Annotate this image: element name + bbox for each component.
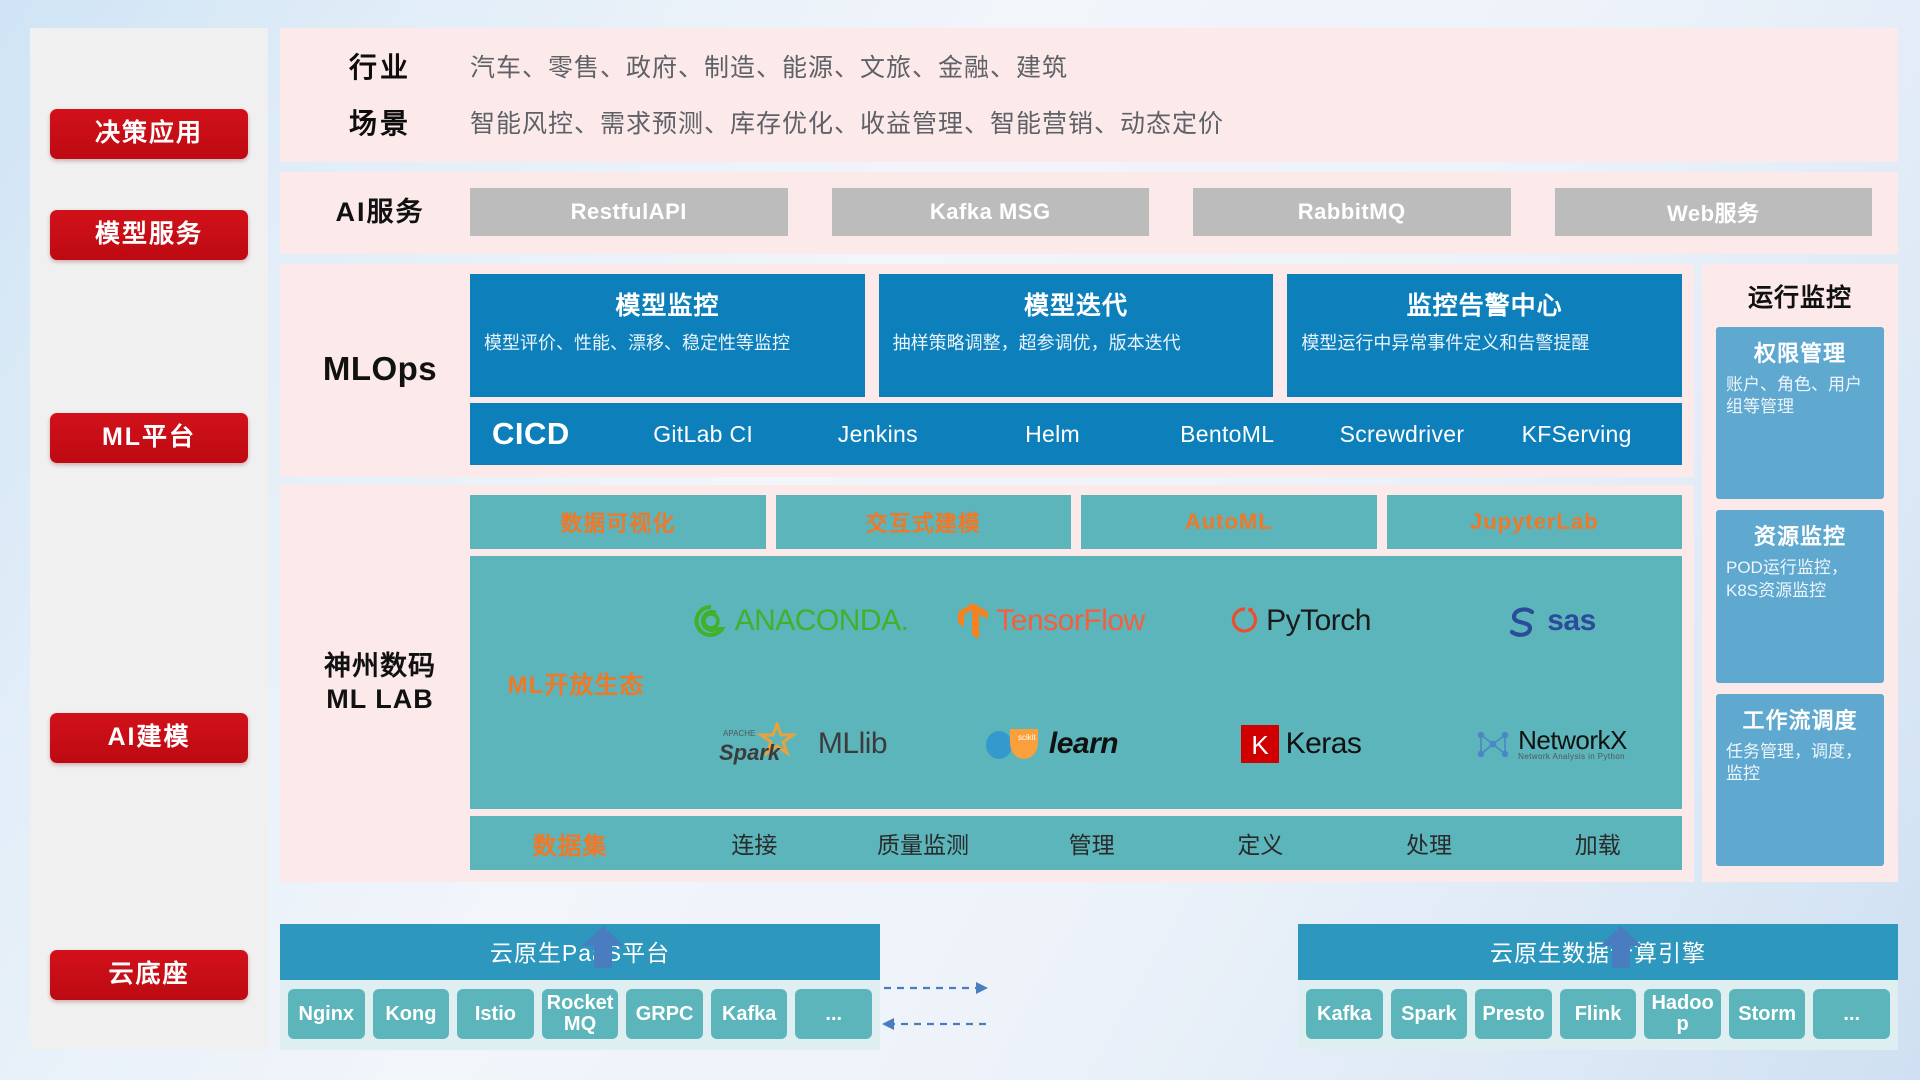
stage-slot-ml-platform: ML平台: [50, 288, 248, 588]
industry-label: 行业: [290, 46, 470, 86]
ml-lab-content: 数据可视化 交互式建模 AutoML JupyterLab ML开放生态: [470, 495, 1682, 870]
stage-slot-model-service: 模型服务: [50, 182, 248, 288]
tensorflow-wordmark: TensorFlow: [996, 604, 1144, 638]
service-chip-kafka-msg[interactable]: Kafka MSG: [832, 188, 1150, 236]
stage-rail: 决策应用 模型服务 ML平台 AI建模 云底座: [30, 28, 268, 1050]
stage-chip-model-service[interactable]: 模型服务: [50, 210, 248, 260]
ml-lab-band: 神州数码 ML LAB 数据可视化 交互式建模 AutoML JupyterLa…: [280, 485, 1694, 882]
monitor-card-permission[interactable]: 权限管理 账户、角色、用户组等管理: [1716, 327, 1884, 499]
monitor-card-resource[interactable]: 资源监控 POD运行监控，K8S资源监控: [1716, 510, 1884, 682]
stage-chip-ai-modeling[interactable]: AI建模: [50, 713, 248, 763]
lab-tool-data-visualization[interactable]: 数据可视化: [470, 495, 766, 549]
dataset-item-definition[interactable]: 定义: [1176, 826, 1345, 860]
stage-chip-decision-app[interactable]: 决策应用: [50, 109, 248, 159]
ml-open-ecosystem-title: ML开放生态: [476, 665, 676, 700]
ml-open-ecosystem-panel: ML开放生态 ANACONDA.: [470, 556, 1682, 809]
tensorflow-logo: TensorFlow: [957, 602, 1144, 640]
paas-chip-istio[interactable]: Istio: [457, 989, 534, 1039]
paas-chip-nginx[interactable]: Nginx: [288, 989, 365, 1039]
stage-chip-cloud-base[interactable]: 云底座: [50, 950, 248, 1000]
scenario-label: 场景: [290, 102, 470, 142]
data-chip-more[interactable]: ...: [1813, 989, 1890, 1039]
keras-wordmark: Keras: [1286, 727, 1362, 761]
data-chip-hadoop[interactable]: Hadoop: [1644, 989, 1721, 1039]
sas-icon: [1506, 604, 1540, 638]
dataset-row: 数据集 连接 质量监测 管理 定义 处理 加载: [470, 816, 1682, 870]
dataset-item-quality-monitoring[interactable]: 质量监测: [839, 826, 1008, 860]
stage-chip-ml-platform[interactable]: ML平台: [50, 413, 248, 463]
application-rows: 行业 汽车、零售、政府、制造、能源、文旅、金融、建筑 场景 智能风控、需求预测、…: [290, 46, 1872, 142]
networkx-icon: [1475, 727, 1511, 761]
mlops-band: MLOps 模型监控 模型评价、性能、漂移、稳定性等监控 模型迭代 抽样策略调整…: [280, 264, 1694, 477]
decision-application-band: 行业 汽车、零售、政府、制造、能源、文旅、金融、建筑 场景 智能风控、需求预测、…: [280, 28, 1898, 162]
mlops-label: MLOps: [290, 274, 470, 465]
ml-lab-label-line1: 神州数码: [324, 650, 436, 683]
card-desc: POD运行监控，K8S资源监控: [1726, 557, 1874, 602]
data-chip-spark[interactable]: Spark: [1391, 989, 1468, 1039]
pytorch-icon: [1231, 604, 1259, 638]
industry-row: 行业 汽车、零售、政府、制造、能源、文旅、金融、建筑: [290, 46, 1872, 86]
lab-tool-interactive-modeling[interactable]: 交互式建模: [776, 495, 1072, 549]
cloud-native-data-engine-group: 云原生数据计算引擎 Kafka Spark Presto Flink Hadoo…: [1298, 924, 1898, 1050]
scikit-learn-logo: scikit learn: [984, 723, 1118, 765]
data-chip-presto[interactable]: Presto: [1475, 989, 1552, 1039]
networkx-logo: NetworkX Network Analysis in Python: [1475, 727, 1627, 761]
paas-chip-kafka[interactable]: Kafka: [711, 989, 788, 1039]
dataset-item-row: 连接 质量监测 管理 定义 处理 加载: [670, 826, 1682, 860]
stage-slot-cloud-base: 云底座: [50, 888, 248, 1000]
arrow-left-icon: [882, 1018, 894, 1030]
cicd-item-kfserving[interactable]: KFServing: [1489, 423, 1664, 446]
stage-slot-ai-modeling: AI建模: [50, 588, 248, 888]
platform-main-column: MLOps 模型监控 模型评价、性能、漂移、稳定性等监控 模型迭代 抽样策略调整…: [280, 264, 1694, 882]
tensorflow-icon: [957, 602, 989, 640]
spark-icon: APACHE Spark: [715, 722, 811, 766]
ai-service-label: AI服务: [290, 196, 470, 229]
industry-values: 汽车、零售、政府、制造、能源、文旅、金融、建筑: [470, 48, 1068, 84]
mlops-card-model-iteration[interactable]: 模型迭代 抽样策略调整，超参调优，版本迭代: [879, 274, 1274, 397]
card-title: 模型监控: [484, 286, 851, 322]
paas-chip-kong[interactable]: Kong: [373, 989, 450, 1039]
sas-wordmark: sas: [1547, 604, 1596, 638]
data-chip-kafka[interactable]: Kafka: [1306, 989, 1383, 1039]
svg-text:K: K: [1251, 730, 1269, 760]
cicd-item-helm[interactable]: Helm: [965, 423, 1140, 446]
keras-logo: K Keras: [1241, 725, 1362, 763]
scenario-row: 场景 智能风控、需求预测、库存优化、收益管理、智能营销、动态定价: [290, 102, 1872, 142]
runtime-monitoring-title: 运行监控: [1716, 278, 1884, 314]
anaconda-logo: ANACONDA.: [694, 604, 909, 638]
service-chip-web-service[interactable]: Web服务: [1555, 188, 1873, 236]
dataset-item-management[interactable]: 管理: [1007, 826, 1176, 860]
cicd-item-row: GitLab CI Jenkins Helm BentoML Screwdriv…: [616, 423, 1664, 446]
scikit-learn-wordmark: learn: [1049, 727, 1118, 761]
scikit-learn-icon: scikit: [984, 723, 1042, 765]
anaconda-wordmark: ANACONDA.: [735, 604, 909, 638]
ml-lab-label-line2: ML LAB: [324, 683, 436, 716]
paas-chip-row: Nginx Kong Istio RocketMQ GRPC Kafka ...: [280, 980, 880, 1050]
mlops-card-model-monitoring[interactable]: 模型监控 模型评价、性能、漂移、稳定性等监控: [470, 274, 865, 397]
architecture-diagram: 决策应用 模型服务 ML平台 AI建模 云底座 行业 汽车、零售、政府、制造、能…: [0, 0, 1920, 1080]
runtime-monitoring-band: 运行监控 权限管理 账户、角色、用户组等管理 资源监控 POD运行监控，K8S资…: [1702, 264, 1898, 882]
cicd-item-bentoml[interactable]: BentoML: [1140, 423, 1315, 446]
card-title: 监控告警中心: [1301, 286, 1668, 322]
content-stack: 行业 汽车、零售、政府、制造、能源、文旅、金融、建筑 场景 智能风控、需求预测、…: [280, 28, 1898, 1050]
arrow-right-icon: [976, 982, 988, 994]
arrow-up-icon: [580, 926, 626, 968]
paas-chip-rocketmq[interactable]: RocketMQ: [542, 989, 619, 1039]
keras-icon: K: [1241, 725, 1279, 763]
cicd-title: CICD: [492, 416, 570, 452]
data-engine-chip-row: Kafka Spark Presto Flink Hadoop Storm ..…: [1298, 980, 1898, 1050]
mlops-content: 模型监控 模型评价、性能、漂移、稳定性等监控 模型迭代 抽样策略调整，超参调优，…: [470, 274, 1682, 465]
card-title: 工作流调度: [1726, 703, 1874, 735]
mlops-card-alert-center[interactable]: 监控告警中心 模型运行中异常事件定义和告警提醒: [1287, 274, 1682, 397]
cicd-item-jenkins[interactable]: Jenkins: [790, 423, 965, 446]
ecosystem-logo-grid: ANACONDA. TensorFlow: [676, 560, 1676, 805]
card-title: 权限管理: [1726, 336, 1874, 368]
arrow-up-icon: [1598, 926, 1644, 968]
mlops-card-row: 模型监控 模型评价、性能、漂移、稳定性等监控 模型迭代 抽样策略调整，超参调优，…: [470, 274, 1682, 397]
ai-service-band: AI服务 RestfulAPI Kafka MSG RabbitMQ Web服务: [280, 172, 1898, 254]
platform-zone: MLOps 模型监控 模型评价、性能、漂移、稳定性等监控 模型迭代 抽样策略调整…: [280, 264, 1898, 882]
cicd-item-screwdriver[interactable]: Screwdriver: [1315, 423, 1490, 446]
lab-tool-jupyterlab[interactable]: JupyterLab: [1387, 495, 1683, 549]
cloud-native-paas-group: 云原生PaaS平台 Nginx Kong Istio RocketMQ GRPC…: [280, 924, 880, 1050]
networkx-tagline: Network Analysis in Python: [1518, 753, 1627, 761]
card-desc: 抽样策略调整，超参调优，版本迭代: [893, 331, 1260, 356]
service-chip-restful-api[interactable]: RestfulAPI: [470, 188, 788, 236]
pytorch-wordmark: PyTorch: [1266, 604, 1371, 638]
spark-mllib-logo: APACHE Spark MLlib: [715, 722, 887, 766]
scenario-values: 智能风控、需求预测、库存优化、收益管理、智能营销、动态定价: [470, 104, 1224, 140]
stage-slot-decision: 决策应用: [50, 86, 248, 182]
dataset-item-connect[interactable]: 连接: [670, 826, 839, 860]
dataset-title: 数据集: [470, 826, 670, 861]
dataset-item-processing[interactable]: 处理: [1345, 826, 1514, 860]
pytorch-logo: PyTorch: [1231, 604, 1371, 638]
card-desc: 模型评价、性能、漂移、稳定性等监控: [484, 331, 851, 356]
card-desc: 任务管理，调度，监控: [1726, 741, 1874, 786]
dataset-item-loading[interactable]: 加载: [1513, 826, 1682, 860]
card-title: 模型迭代: [893, 286, 1260, 322]
svg-text:Spark: Spark: [719, 740, 782, 765]
ai-service-chip-row: RestfulAPI Kafka MSG RabbitMQ Web服务: [470, 188, 1872, 236]
cicd-bar: CICD GitLab CI Jenkins Helm BentoML Scre…: [470, 403, 1682, 465]
card-title: 资源监控: [1726, 519, 1874, 551]
card-desc: 账户、角色、用户组等管理: [1726, 374, 1874, 419]
mllib-wordmark: MLlib: [818, 727, 887, 761]
service-chip-rabbitmq[interactable]: RabbitMQ: [1193, 188, 1511, 236]
bidirectional-dashed-connector: [880, 972, 990, 1042]
card-desc: 模型运行中异常事件定义和告警提醒: [1301, 331, 1668, 356]
paas-chip-grpc[interactable]: GRPC: [626, 989, 703, 1039]
ml-lab-tool-row: 数据可视化 交互式建模 AutoML JupyterLab: [470, 495, 1682, 549]
data-chip-storm[interactable]: Storm: [1729, 989, 1806, 1039]
cloud-base-zone: 云原生PaaS平台 Nginx Kong Istio RocketMQ GRPC…: [280, 892, 1898, 1050]
svg-text:scikit: scikit: [1018, 733, 1037, 742]
networkx-wordmark-block: NetworkX Network Analysis in Python: [1518, 727, 1627, 761]
data-chip-flink[interactable]: Flink: [1560, 989, 1637, 1039]
paas-chip-more[interactable]: ...: [795, 989, 872, 1039]
monitor-card-workflow[interactable]: 工作流调度 任务管理，调度，监控: [1716, 694, 1884, 866]
sas-logo: sas: [1506, 604, 1596, 638]
networkx-wordmark: NetworkX: [1518, 727, 1627, 753]
cicd-item-gitlab-ci[interactable]: GitLab CI: [616, 423, 791, 446]
lab-tool-automl[interactable]: AutoML: [1081, 495, 1377, 549]
svg-text:APACHE: APACHE: [723, 729, 755, 738]
ml-lab-label: 神州数码 ML LAB: [290, 495, 470, 870]
anaconda-icon: [694, 604, 728, 638]
